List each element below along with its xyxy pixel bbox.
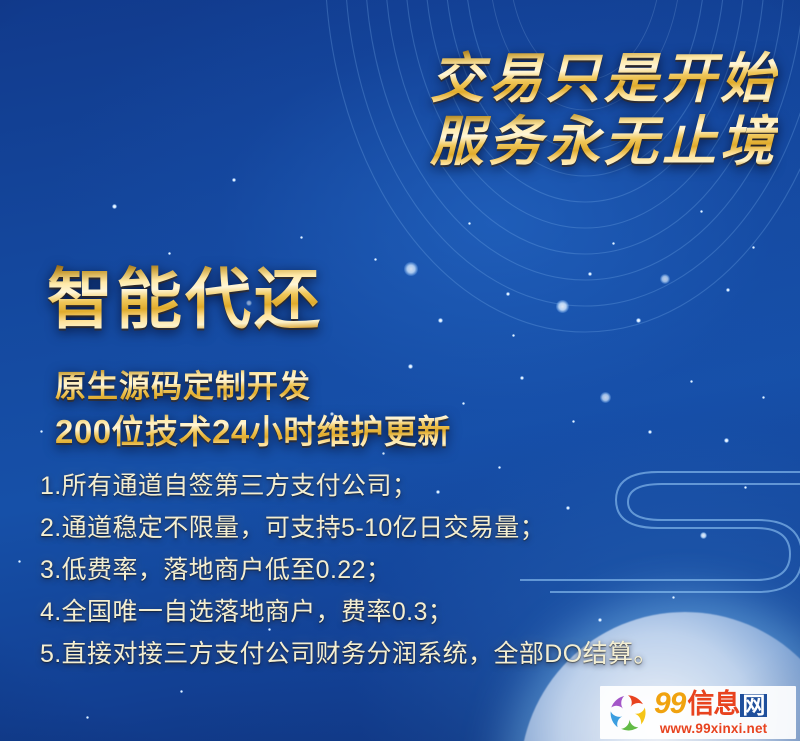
watermark-brand-number: 99 <box>654 689 685 719</box>
watermark-brand-net: 网 <box>740 694 767 717</box>
pinwheel-logo-icon <box>606 691 650 735</box>
page-title: 智能代还 <box>47 264 323 335</box>
headline-block: 交易只是开始 服务永无止境 <box>430 48 778 173</box>
watermark-brand: 99 信息 网 <box>654 689 767 719</box>
poster-canvas: 交易只是开始 服务永无止境 智能代还 原生源码定制开发 200位技术24小时维护… <box>0 0 800 741</box>
list-item: 4.全国唯一自选落地商户，费率0.3； <box>40 591 659 633</box>
subheading-line-2: 200位技术24小时维护更新 <box>55 409 451 455</box>
feature-list: 1.所有通道自签第三方支付公司； 2.通道稳定不限量，可支持5-10亿日交易量；… <box>40 465 659 675</box>
list-item: 2.通道稳定不限量，可支持5-10亿日交易量； <box>40 507 659 549</box>
subheading-line-1: 原生源码定制开发 <box>55 366 451 409</box>
watermark-text: 99 信息 网 www.99xinxi.net <box>654 689 767 736</box>
watermark-url[interactable]: www.99xinxi.net <box>654 722 767 736</box>
list-item: 5.直接对接三方支付公司财务分润系统，全部DO结算。 <box>40 633 659 675</box>
list-item: 1.所有通道自签第三方支付公司； <box>40 465 659 507</box>
list-item: 3.低费率，落地商户低至0.22； <box>40 549 659 591</box>
subheading-block: 原生源码定制开发 200位技术24小时维护更新 <box>55 366 451 454</box>
headline-line-1: 交易只是开始 <box>430 48 778 111</box>
site-watermark[interactable]: 99 信息 网 www.99xinxi.net <box>600 686 796 739</box>
headline-line-2: 服务永无止境 <box>430 111 778 174</box>
watermark-brand-cn: 信息 <box>687 691 739 718</box>
